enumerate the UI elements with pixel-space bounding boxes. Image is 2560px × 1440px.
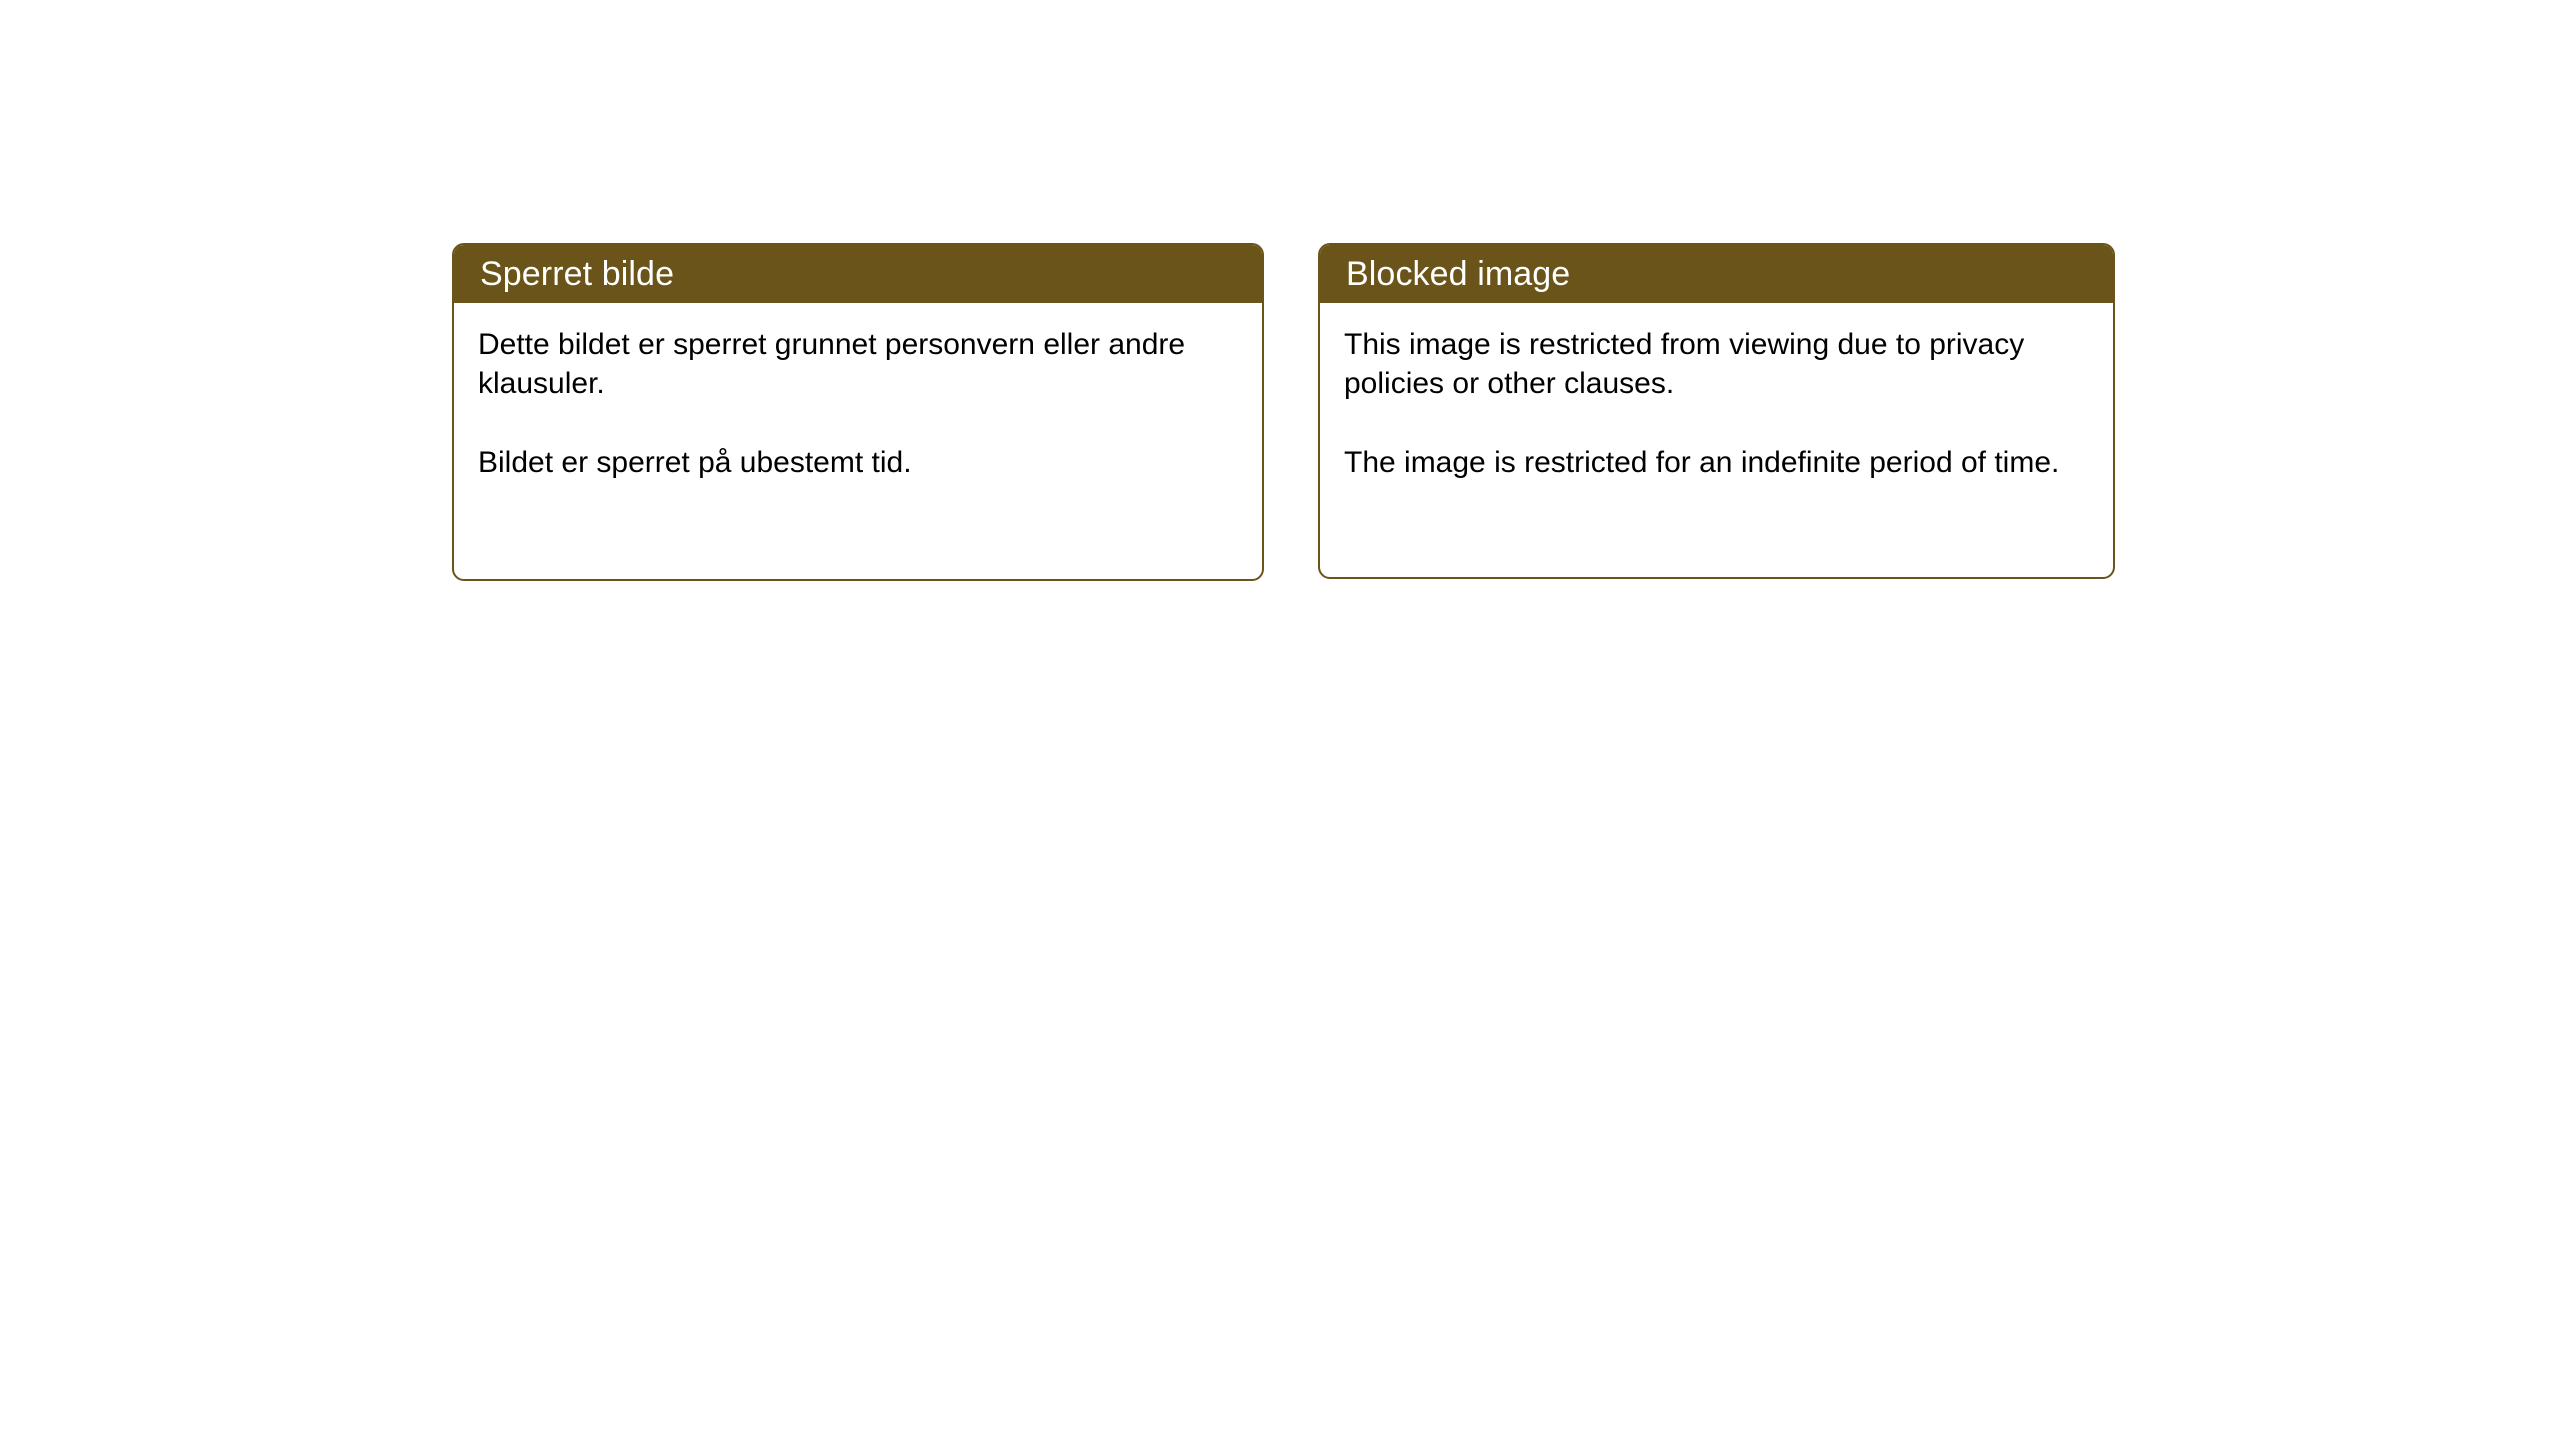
notice-paragraph: The image is restricted for an indefinit… (1344, 443, 2089, 482)
panel-title-english: Blocked image (1346, 257, 1570, 291)
notice-paragraph: Dette bildet er sperret grunnet personve… (478, 325, 1238, 403)
panel-title-norwegian: Sperret bilde (480, 257, 674, 291)
notice-paragraph: Bildet er sperret på ubestemt tid. (478, 443, 1238, 482)
blocked-image-notice-panel-norwegian: Sperret bilde Dette bildet er sperret gr… (452, 243, 1264, 581)
notice-paragraph: This image is restricted from viewing du… (1344, 325, 2089, 403)
panel-header-norwegian: Sperret bilde (454, 245, 1262, 303)
panel-header-english: Blocked image (1320, 245, 2113, 303)
page-canvas: Sperret bilde Dette bildet er sperret gr… (0, 0, 2560, 1440)
panel-body-norwegian: Dette bildet er sperret grunnet personve… (454, 303, 1262, 482)
panel-body-english: This image is restricted from viewing du… (1320, 303, 2113, 482)
blocked-image-notice-panel-english: Blocked image This image is restricted f… (1318, 243, 2115, 579)
